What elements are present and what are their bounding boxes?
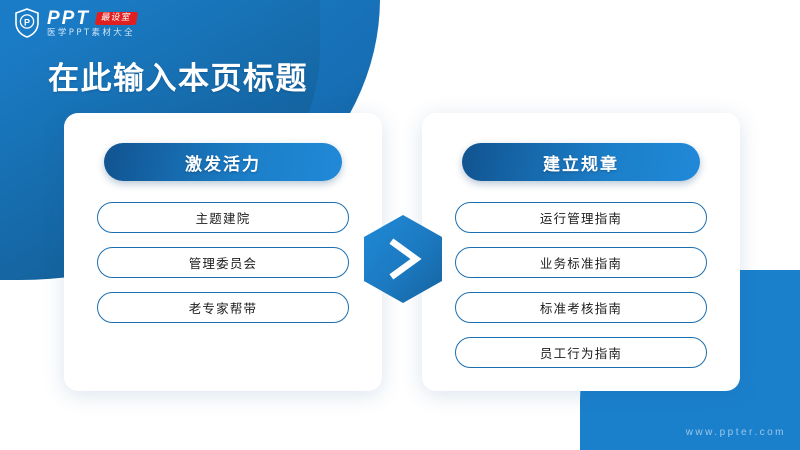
panel-card-left: 激发活力 主题建院 管理委员会 老专家帮带	[64, 113, 382, 391]
panel-header-right[interactable]: 建立规章	[462, 143, 700, 181]
list-item-label: 管理委员会	[189, 253, 258, 272]
panel-header-left[interactable]: 激发活力	[104, 143, 342, 181]
list-item[interactable]: 主题建院	[97, 202, 349, 233]
panel-header-left-label: 激发活力	[185, 150, 261, 175]
list-item-label: 老专家帮带	[189, 298, 258, 317]
page-title: 在此输入本页标题	[48, 53, 308, 98]
list-item-label: 主题建院	[196, 208, 251, 227]
list-item-label: 运行管理指南	[540, 208, 622, 227]
list-item-label: 标准考核指南	[540, 298, 622, 317]
connector-hexagon	[362, 214, 444, 304]
list-item[interactable]: 管理委员会	[97, 247, 349, 278]
logo-badge: 最设室	[95, 12, 138, 25]
list-item-label: 业务标准指南	[540, 253, 622, 272]
logo-subtitle: 医学PPT素材大全	[47, 29, 137, 38]
panel-left-item-list: 主题建院 管理委员会 老专家帮带	[97, 202, 349, 323]
panel-right-item-list: 运行管理指南 业务标准指南 标准考核指南 员工行为指南	[455, 202, 707, 368]
list-item[interactable]: 业务标准指南	[455, 247, 707, 278]
shield-letter: P	[24, 17, 30, 27]
panel-card-right: 建立规章 运行管理指南 业务标准指南 标准考核指南 员工行为指南	[422, 113, 740, 391]
shield-icon: P	[14, 8, 40, 38]
logo-primary-row: PPT 最设室	[47, 9, 137, 28]
list-item[interactable]: 运行管理指南	[455, 202, 707, 233]
list-item[interactable]: 老专家帮带	[97, 292, 349, 323]
list-item[interactable]: 标准考核指南	[455, 292, 707, 323]
list-item-label: 员工行为指南	[540, 343, 622, 362]
logo-text-group: PPT 最设室 医学PPT素材大全	[47, 9, 137, 38]
slide-canvas: P PPT 最设室 医学PPT素材大全 在此输入本页标题 激发活力 主题建院 管…	[0, 0, 800, 450]
list-item[interactable]: 员工行为指南	[455, 337, 707, 368]
logo-brand-text: PPT	[47, 9, 90, 28]
panel-header-right-label: 建立规章	[543, 150, 619, 175]
brand-logo: P PPT 最设室 医学PPT素材大全	[14, 8, 137, 38]
site-watermark: www.ppter.com	[686, 427, 786, 438]
